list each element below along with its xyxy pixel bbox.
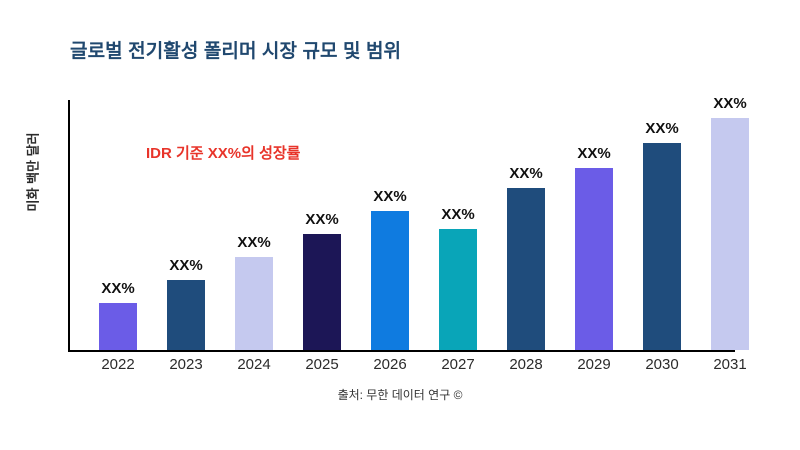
bar[interactable] [575, 168, 613, 350]
source-note: 출처: 무한 데이터 연구 © [0, 386, 800, 403]
bar-value-label: XX% [509, 165, 542, 182]
bar-value-label: XX% [169, 257, 202, 274]
bar-group[interactable]: XX% [492, 100, 560, 350]
bar-value-label: XX% [373, 188, 406, 205]
bar-group[interactable]: XX% [356, 100, 424, 350]
bar-value-label: XX% [577, 145, 610, 162]
chart-title: 글로벌 전기활성 폴리머 시장 규모 및 범위 [70, 36, 401, 63]
bar-value-label: XX% [101, 280, 134, 297]
chart-container: 글로벌 전기활성 폴리머 시장 규모 및 범위 미화 백만 달러 XX%XX%X… [0, 0, 800, 450]
x-tick-label-2031: 2031 [696, 356, 764, 373]
x-tick-label-2027: 2027 [424, 356, 492, 373]
bar[interactable] [371, 211, 409, 350]
bar[interactable] [439, 229, 477, 350]
bar[interactable] [711, 118, 749, 350]
bar-series: XX%XX%XX%XX%XX%XX%XX%XX%XX%XX% [68, 100, 783, 352]
bar-value-label: XX% [237, 234, 270, 251]
x-axis-tick-labels: 2022202320242025202620272028202920302031 [68, 356, 783, 378]
x-tick-label-2023: 2023 [152, 356, 220, 373]
bar-value-label: XX% [645, 120, 678, 137]
y-axis-label-wrapper: 미화 백만 달러 [22, 112, 42, 232]
x-tick-label-2024: 2024 [220, 356, 288, 373]
y-axis-label: 미화 백만 달러 [23, 133, 42, 212]
bar-group[interactable]: XX% [288, 100, 356, 350]
x-tick-label-2028: 2028 [492, 356, 560, 373]
x-tick-label-2030: 2030 [628, 356, 696, 373]
bar[interactable] [99, 303, 137, 350]
bar[interactable] [643, 143, 681, 350]
bar-group[interactable]: XX% [696, 100, 764, 350]
bar[interactable] [235, 257, 273, 350]
bar-group[interactable]: XX% [424, 100, 492, 350]
bar-value-label: XX% [713, 95, 746, 112]
bar-group[interactable]: XX% [84, 100, 152, 350]
x-tick-label-2029: 2029 [560, 356, 628, 373]
bar[interactable] [507, 188, 545, 350]
x-tick-label-2025: 2025 [288, 356, 356, 373]
x-tick-label-2022: 2022 [84, 356, 152, 373]
bar[interactable] [303, 234, 341, 350]
bar-group[interactable]: XX% [560, 100, 628, 350]
bar-group[interactable]: XX% [220, 100, 288, 350]
bar-value-label: XX% [305, 211, 338, 228]
bar-group[interactable]: XX% [628, 100, 696, 350]
x-tick-label-2026: 2026 [356, 356, 424, 373]
bar-value-label: XX% [441, 206, 474, 223]
plot-area: XX%XX%XX%XX%XX%XX%XX%XX%XX%XX% [68, 100, 783, 352]
growth-rate-annotation: IDR 기준 XX%의 성장률 [146, 142, 300, 163]
bar[interactable] [167, 280, 205, 350]
bar-group[interactable]: XX% [152, 100, 220, 350]
